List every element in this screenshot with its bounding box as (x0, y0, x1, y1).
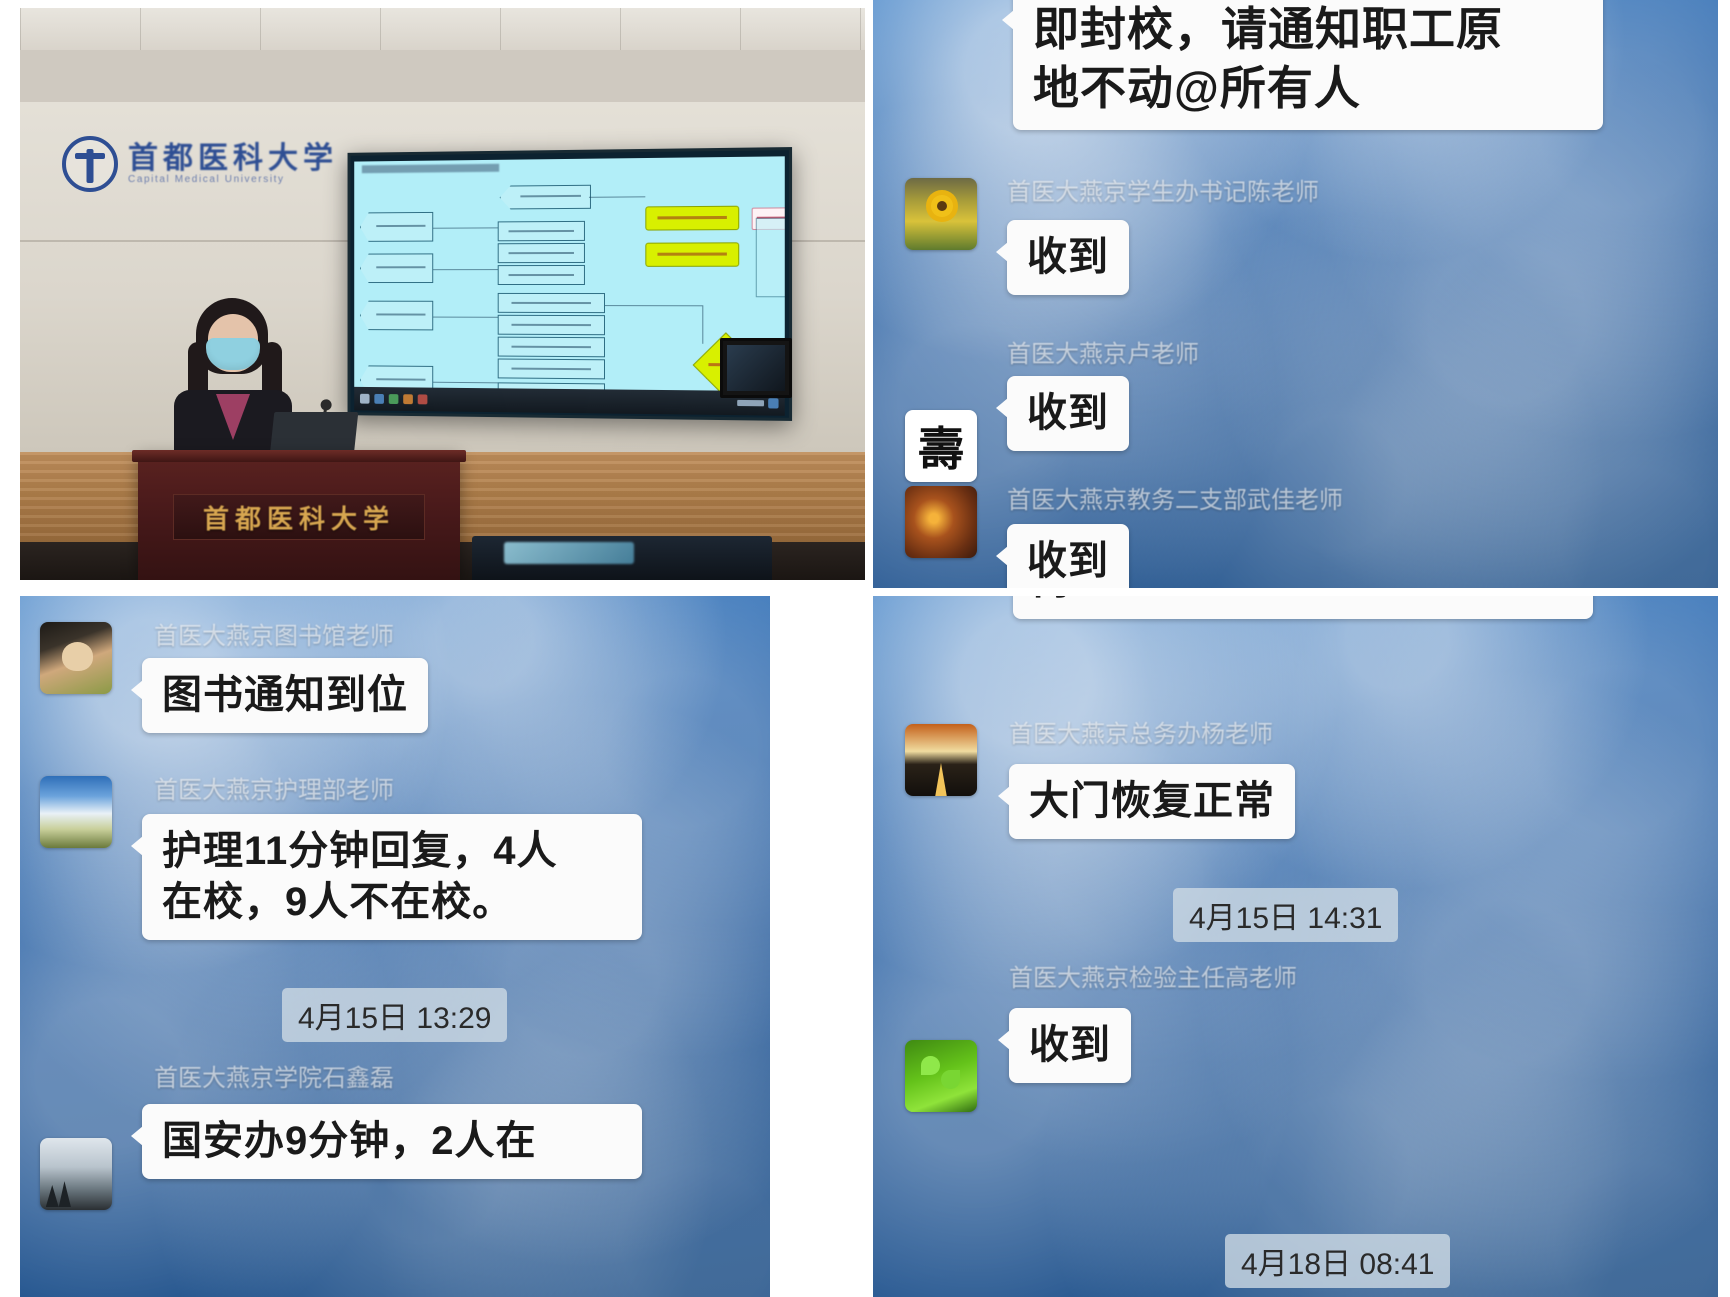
flow-connector (433, 317, 497, 318)
chat-bubble[interactable]: 收到 (1007, 220, 1129, 295)
taskbar-tray (737, 398, 778, 409)
flow-task-6 (498, 337, 605, 358)
chat-bubble[interactable]: 即封校，请通知职工原 地不动@所有人 (1013, 0, 1603, 130)
flow-connector (433, 269, 497, 270)
chat-panel-top-right[interactable]: 即封校，请通知职工原 地不动@所有人 首医大燕京学生办书记陈老师 收到 首医大燕… (873, 0, 1718, 588)
flow-connector (605, 305, 702, 306)
chat-sender-name: 首医大燕京卢老师 (1007, 334, 1199, 369)
podium-nameplate: 首都医科大学 (173, 494, 425, 540)
side-monitor (720, 338, 792, 398)
flow-connector (433, 382, 497, 384)
wall-wood-beam (20, 50, 865, 102)
chat-sender-name: 首医大燕京护理部老师 (154, 770, 394, 805)
chat-sender-name: 首医大燕京学生办书记陈老师 (1007, 172, 1319, 207)
university-emblem-icon (62, 136, 118, 192)
university-name-cn: 首都医科大学 (128, 143, 338, 175)
lecture-photo-panel: 首都医科大学 Capital Medical University (20, 8, 865, 580)
podium-nameplate-text: 首都医科大学 (203, 499, 395, 536)
taskbar-icon (418, 394, 428, 404)
chat-panel-bottom-left[interactable]: 首医大燕京图书馆老师 图书通知到位 首医大燕京护理部老师 护理11分钟回复，4人… (20, 596, 770, 1297)
chat-timestamp: 4月18日 08:41 (1225, 1234, 1450, 1288)
flow-top-node (500, 185, 591, 210)
flow-task-7 (498, 359, 605, 380)
landscape-avatar[interactable] (40, 1138, 112, 1210)
chat-timestamp: 4月15日 13:29 (282, 988, 507, 1042)
university-name-en: Capital Medical University (128, 174, 338, 185)
taskbar-icon (374, 394, 384, 404)
chat-bubble[interactable]: 收到 (1007, 524, 1129, 588)
sunflower-avatar[interactable] (905, 178, 977, 250)
chat-bubble[interactable]: 除 (1013, 596, 1593, 619)
slide-title-bar (362, 161, 777, 174)
flow-task-1 (498, 221, 585, 241)
clover-avatar[interactable] (905, 1040, 977, 1112)
chat-bubble[interactable]: 收到 (1007, 376, 1129, 451)
taskbar-icon (403, 394, 413, 404)
cell-chat-bottom-right: 除 首医大燕京总务办杨老师 大门恢复正常 4月15日 14:31 首医大燕京检验… (865, 592, 1730, 1297)
road-avatar[interactable] (905, 724, 977, 796)
chat-sender-name: 首医大燕京图书馆老师 (154, 616, 394, 651)
podium: 首都医科大学 (138, 456, 460, 580)
flow-stage-1 (360, 212, 433, 242)
chat-bubble[interactable]: 收到 (1009, 1008, 1131, 1083)
dog-avatar[interactable] (40, 622, 112, 694)
flow-task-2 (498, 243, 585, 263)
chat-bubble[interactable]: 护理11分钟回复，4人 在校，9人不在校。 (142, 814, 642, 940)
seal-glyph-avatar[interactable]: 壽 (905, 410, 977, 482)
flow-highlight-1 (645, 206, 739, 231)
flow-task-3 (498, 265, 585, 285)
collage-grid: 首都医科大学 Capital Medical University (0, 0, 1730, 1297)
cell-lecture-photo: 首都医科大学 Capital Medical University (0, 0, 865, 592)
flow-right-box-1 (756, 218, 785, 298)
flow-connector (589, 196, 645, 197)
autumn-leaves-avatar[interactable] (905, 486, 977, 558)
flow-connector (702, 305, 703, 344)
chat-bubble[interactable]: 大门恢复正常 (1009, 764, 1295, 839)
chat-sender-name: 首医大燕京检验主任高老师 (1009, 958, 1297, 993)
cell-chat-top-right: 即封校，请通知职工原 地不动@所有人 首医大燕京学生办书记陈老师 收到 首医大燕… (865, 0, 1730, 592)
flow-connector (433, 227, 497, 228)
podium-top (132, 450, 466, 462)
chat-panel-bottom-right[interactable]: 除 首医大燕京总务办杨老师 大门恢复正常 4月15日 14:31 首医大燕京检验… (873, 596, 1718, 1297)
flow-highlight-2 (645, 242, 739, 267)
sky-avatar[interactable] (40, 776, 112, 848)
university-logo-text: 首都医科大学 Capital Medical University (128, 143, 338, 186)
university-logo: 首都医科大学 Capital Medical University (62, 136, 338, 192)
front-desk (472, 536, 772, 580)
flow-stage-3 (360, 301, 433, 331)
chat-bubble[interactable]: 图书通知到位 (142, 658, 428, 733)
chat-bubble[interactable]: 国安办9分钟，2人在 (142, 1104, 642, 1179)
flow-task-4 (498, 293, 605, 313)
ceiling-grid (20, 8, 865, 50)
flow-task-5 (498, 315, 605, 335)
cell-chat-bottom-left: 首医大燕京图书馆老师 图书通知到位 首医大燕京护理部老师 护理11分钟回复，4人… (0, 592, 865, 1297)
chat-sender-name: 首医大燕京学院石鑫磊 (154, 1058, 394, 1093)
taskbar-icon (768, 398, 778, 408)
taskbar-clock (737, 400, 764, 406)
taskbar-icon (360, 394, 370, 404)
chat-timestamp: 4月15日 14:31 (1173, 888, 1398, 942)
chat-sender-name: 首医大燕京总务办杨老师 (1009, 714, 1273, 749)
flow-stage-2 (360, 253, 433, 283)
chat-sender-name: 首医大燕京教务二支部武佳老师 (1007, 480, 1343, 515)
taskbar-icon (389, 394, 399, 404)
